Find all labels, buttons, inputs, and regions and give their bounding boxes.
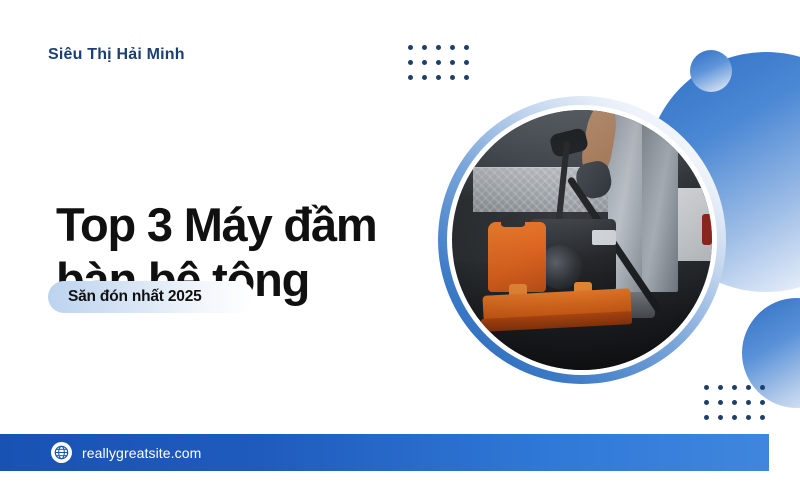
decor-dot-grid-top: [408, 45, 478, 90]
subtitle-badge-label: Săn đón nhất 2025: [68, 288, 202, 306]
brand-name: Siêu Thị Hải Minh: [48, 46, 185, 64]
decor-circle-medium-right: [742, 298, 800, 408]
promo-banner: Siêu Thị Hải Minh Top 3 Máy đầm bàn bê t…: [0, 0, 800, 500]
status-badge: Săn đón nhất 2025: [48, 281, 254, 313]
photo-inner-gap: [447, 105, 717, 375]
website-url[interactable]: reallygreatsite.com: [82, 445, 201, 461]
decor-circle-small-top: [690, 50, 732, 92]
product-photo: [452, 110, 712, 370]
footer-bar: reallygreatsite.com: [0, 434, 769, 471]
decor-dot-grid-bottom: [704, 385, 774, 430]
photo-vignette: [452, 110, 712, 370]
globe-icon: [51, 442, 72, 463]
headline-line-1: Top 3 Máy đầm: [56, 198, 456, 253]
photo-ring: [438, 96, 726, 384]
